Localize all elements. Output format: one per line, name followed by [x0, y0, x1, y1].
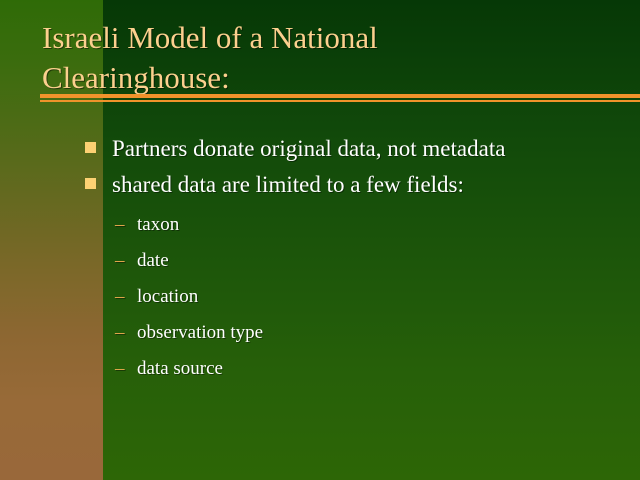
bullet-item-level2: – data source — [0, 351, 640, 387]
square-bullet-icon — [85, 178, 96, 189]
slide-title-line-1: Israeli Model of a National — [42, 18, 602, 58]
title-divider-thin-bar — [40, 100, 640, 102]
slide-title-line-2: Clearinghouse: — [42, 58, 602, 98]
presentation-slide: Israeli Model of a National Clearinghous… — [0, 0, 640, 480]
bullet-item-level2: – observation type — [0, 315, 640, 351]
bullet-label: taxon — [137, 214, 179, 235]
slide-title: Israeli Model of a National Clearinghous… — [42, 18, 602, 98]
dash-bullet-icon: – — [115, 351, 125, 387]
bullet-label: shared data are limited to a few fields: — [112, 172, 464, 197]
bullet-item-level2: – location — [0, 279, 640, 315]
bullet-item-level2: – date — [0, 243, 640, 279]
bullet-label: observation type — [137, 322, 263, 343]
square-bullet-icon — [85, 142, 96, 153]
bullet-label: data source — [137, 358, 223, 379]
bullet-item-level1: shared data are limited to a few fields: — [0, 167, 640, 203]
dash-bullet-icon: – — [115, 315, 125, 351]
bullet-item-level1: Partners donate original data, not metad… — [0, 131, 640, 167]
bullet-label: location — [137, 286, 198, 307]
bullet-label: date — [137, 250, 169, 271]
title-divider-thick-bar — [40, 94, 640, 98]
dash-bullet-icon: – — [115, 279, 125, 315]
slide-content: Israeli Model of a National Clearinghous… — [0, 0, 640, 480]
bullet-label: Partners donate original data, not metad… — [112, 136, 505, 161]
sub-bullet-group: – taxon – date – location – observation … — [0, 207, 640, 387]
bullet-item-level2: – taxon — [0, 207, 640, 243]
slide-body: Partners donate original data, not metad… — [0, 131, 640, 387]
title-divider-rule — [40, 94, 640, 103]
dash-bullet-icon: – — [115, 207, 125, 243]
dash-bullet-icon: – — [115, 243, 125, 279]
